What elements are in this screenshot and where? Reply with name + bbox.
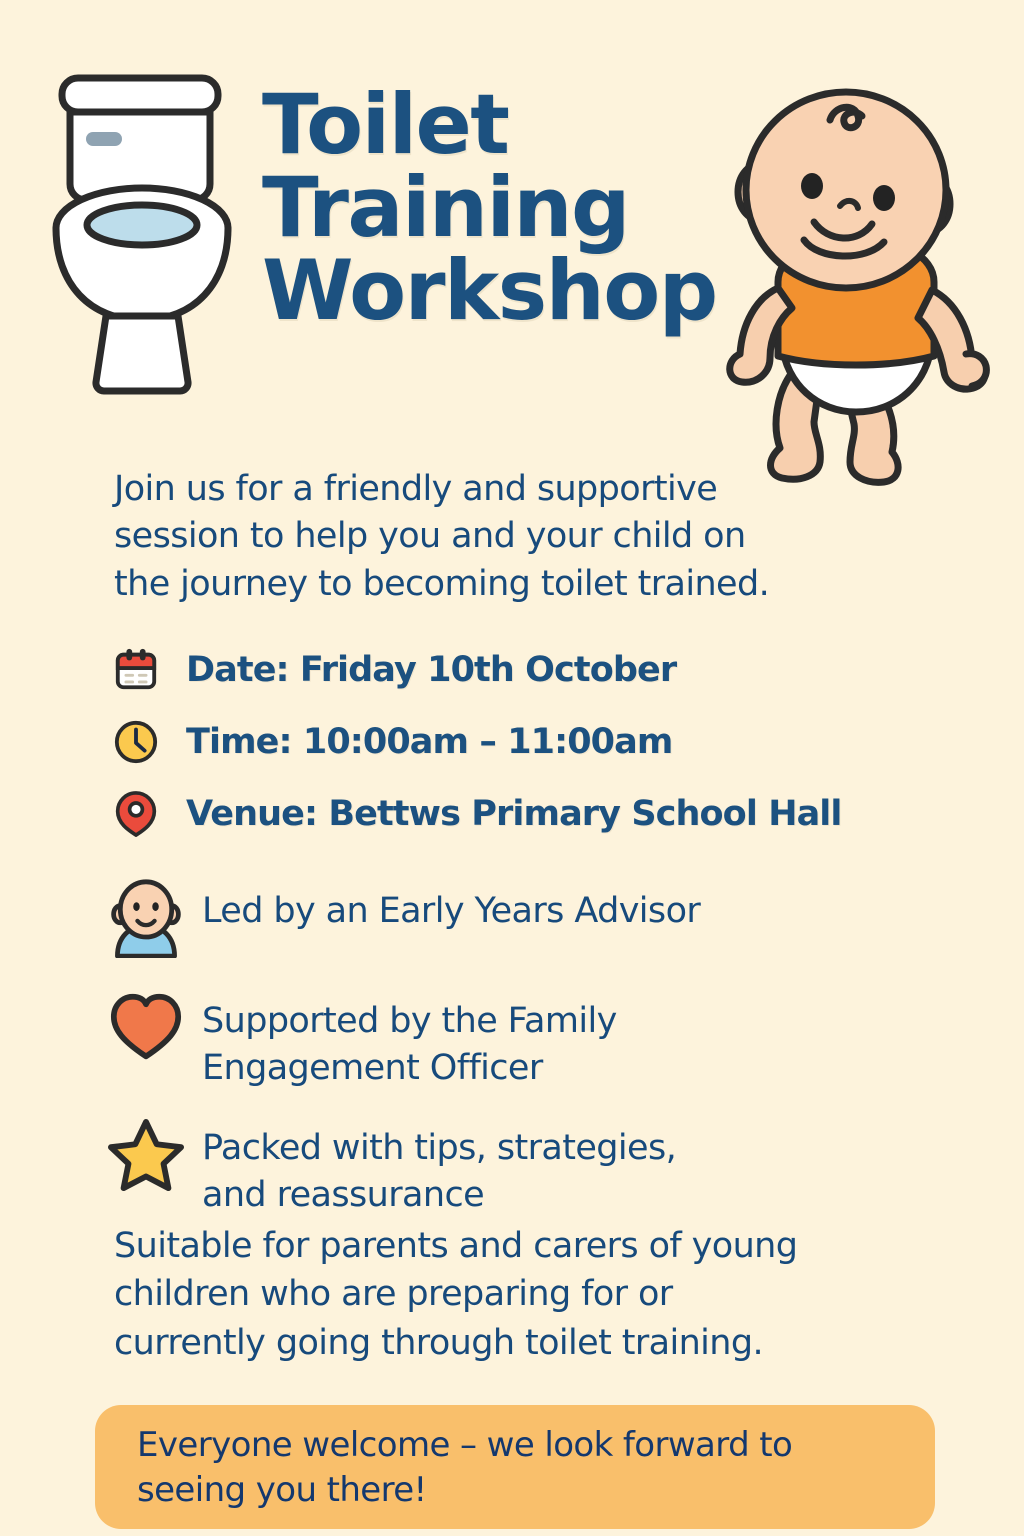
title-line-3: Workshop: [262, 252, 782, 331]
title-line-1: Toilet: [262, 86, 782, 165]
feature-tips-line-1: Packed with tips, strategies,: [202, 1128, 676, 1168]
outro-paragraph: Suitable for parents and carers of young…: [114, 1222, 894, 1367]
feature-advisor-line-1: Led by an Early Years Advisor: [202, 891, 700, 931]
banner-line-1: Everyone welcome – we look forward to: [137, 1423, 935, 1468]
title-line-2: Training: [262, 169, 782, 248]
outro-line-2: children who are preparing for or: [114, 1270, 894, 1318]
location-pin-icon: [108, 783, 164, 845]
intro-line-2: session to help you and your child on: [114, 513, 854, 560]
person-icon: [100, 872, 192, 964]
poster-header: Toilet Training Workshop: [0, 0, 1024, 470]
calendar-icon: [108, 639, 164, 701]
event-details-list: Date: Friday 10th October Time: 10:00am …: [108, 634, 988, 850]
feature-tips-line-2: and reassurance: [202, 1175, 484, 1215]
features-list: Led by an Early Years Advisor Supported …: [100, 872, 960, 1236]
feature-label-support: Supported by the Family Engagement Offic…: [202, 982, 617, 1091]
intro-line-3: the journey to becoming toilet trained.: [114, 561, 854, 608]
detail-label-date: Date: Friday 10th October: [186, 650, 676, 690]
feature-row-advisor: Led by an Early Years Advisor: [100, 872, 960, 964]
detail-row-date: Date: Friday 10th October: [108, 634, 988, 706]
outro-line-3: currently going through toilet training.: [114, 1319, 894, 1367]
page-title: Toilet Training Workshop: [262, 86, 782, 335]
toilet-illustration: [44, 70, 254, 400]
detail-label-venue: Venue: Bettws Primary School Hall: [186, 794, 842, 834]
detail-row-venue: Venue: Bettws Primary School Hall: [108, 778, 988, 850]
feature-support-line-1: Supported by the Family: [202, 1001, 617, 1041]
poster-root: Toilet Training Workshop: [0, 0, 1024, 1536]
intro-paragraph: Join us for a friendly and supportive se…: [114, 466, 854, 608]
detail-row-time: Time: 10:00am – 11:00am: [108, 706, 988, 778]
intro-line-1: Join us for a friendly and supportive: [114, 466, 854, 513]
star-icon: [100, 1109, 192, 1201]
feature-label-advisor: Led by an Early Years Advisor: [202, 872, 700, 935]
feature-row-tips: Packed with tips, strategies, and reassu…: [100, 1109, 960, 1218]
heart-icon: [100, 982, 192, 1074]
clock-icon: [108, 711, 164, 773]
feature-row-support: Supported by the Family Engagement Offic…: [100, 982, 960, 1091]
detail-label-time: Time: 10:00am – 11:00am: [186, 722, 672, 762]
banner-text: Everyone welcome – we look forward to se…: [137, 1423, 935, 1513]
banner-line-2: seeing you there!: [137, 1468, 935, 1513]
feature-support-line-2: Engagement Officer: [202, 1048, 543, 1088]
welcome-banner: Everyone welcome – we look forward to se…: [95, 1405, 935, 1529]
feature-label-tips: Packed with tips, strategies, and reassu…: [202, 1109, 676, 1218]
outro-line-1: Suitable for parents and carers of young: [114, 1222, 894, 1270]
